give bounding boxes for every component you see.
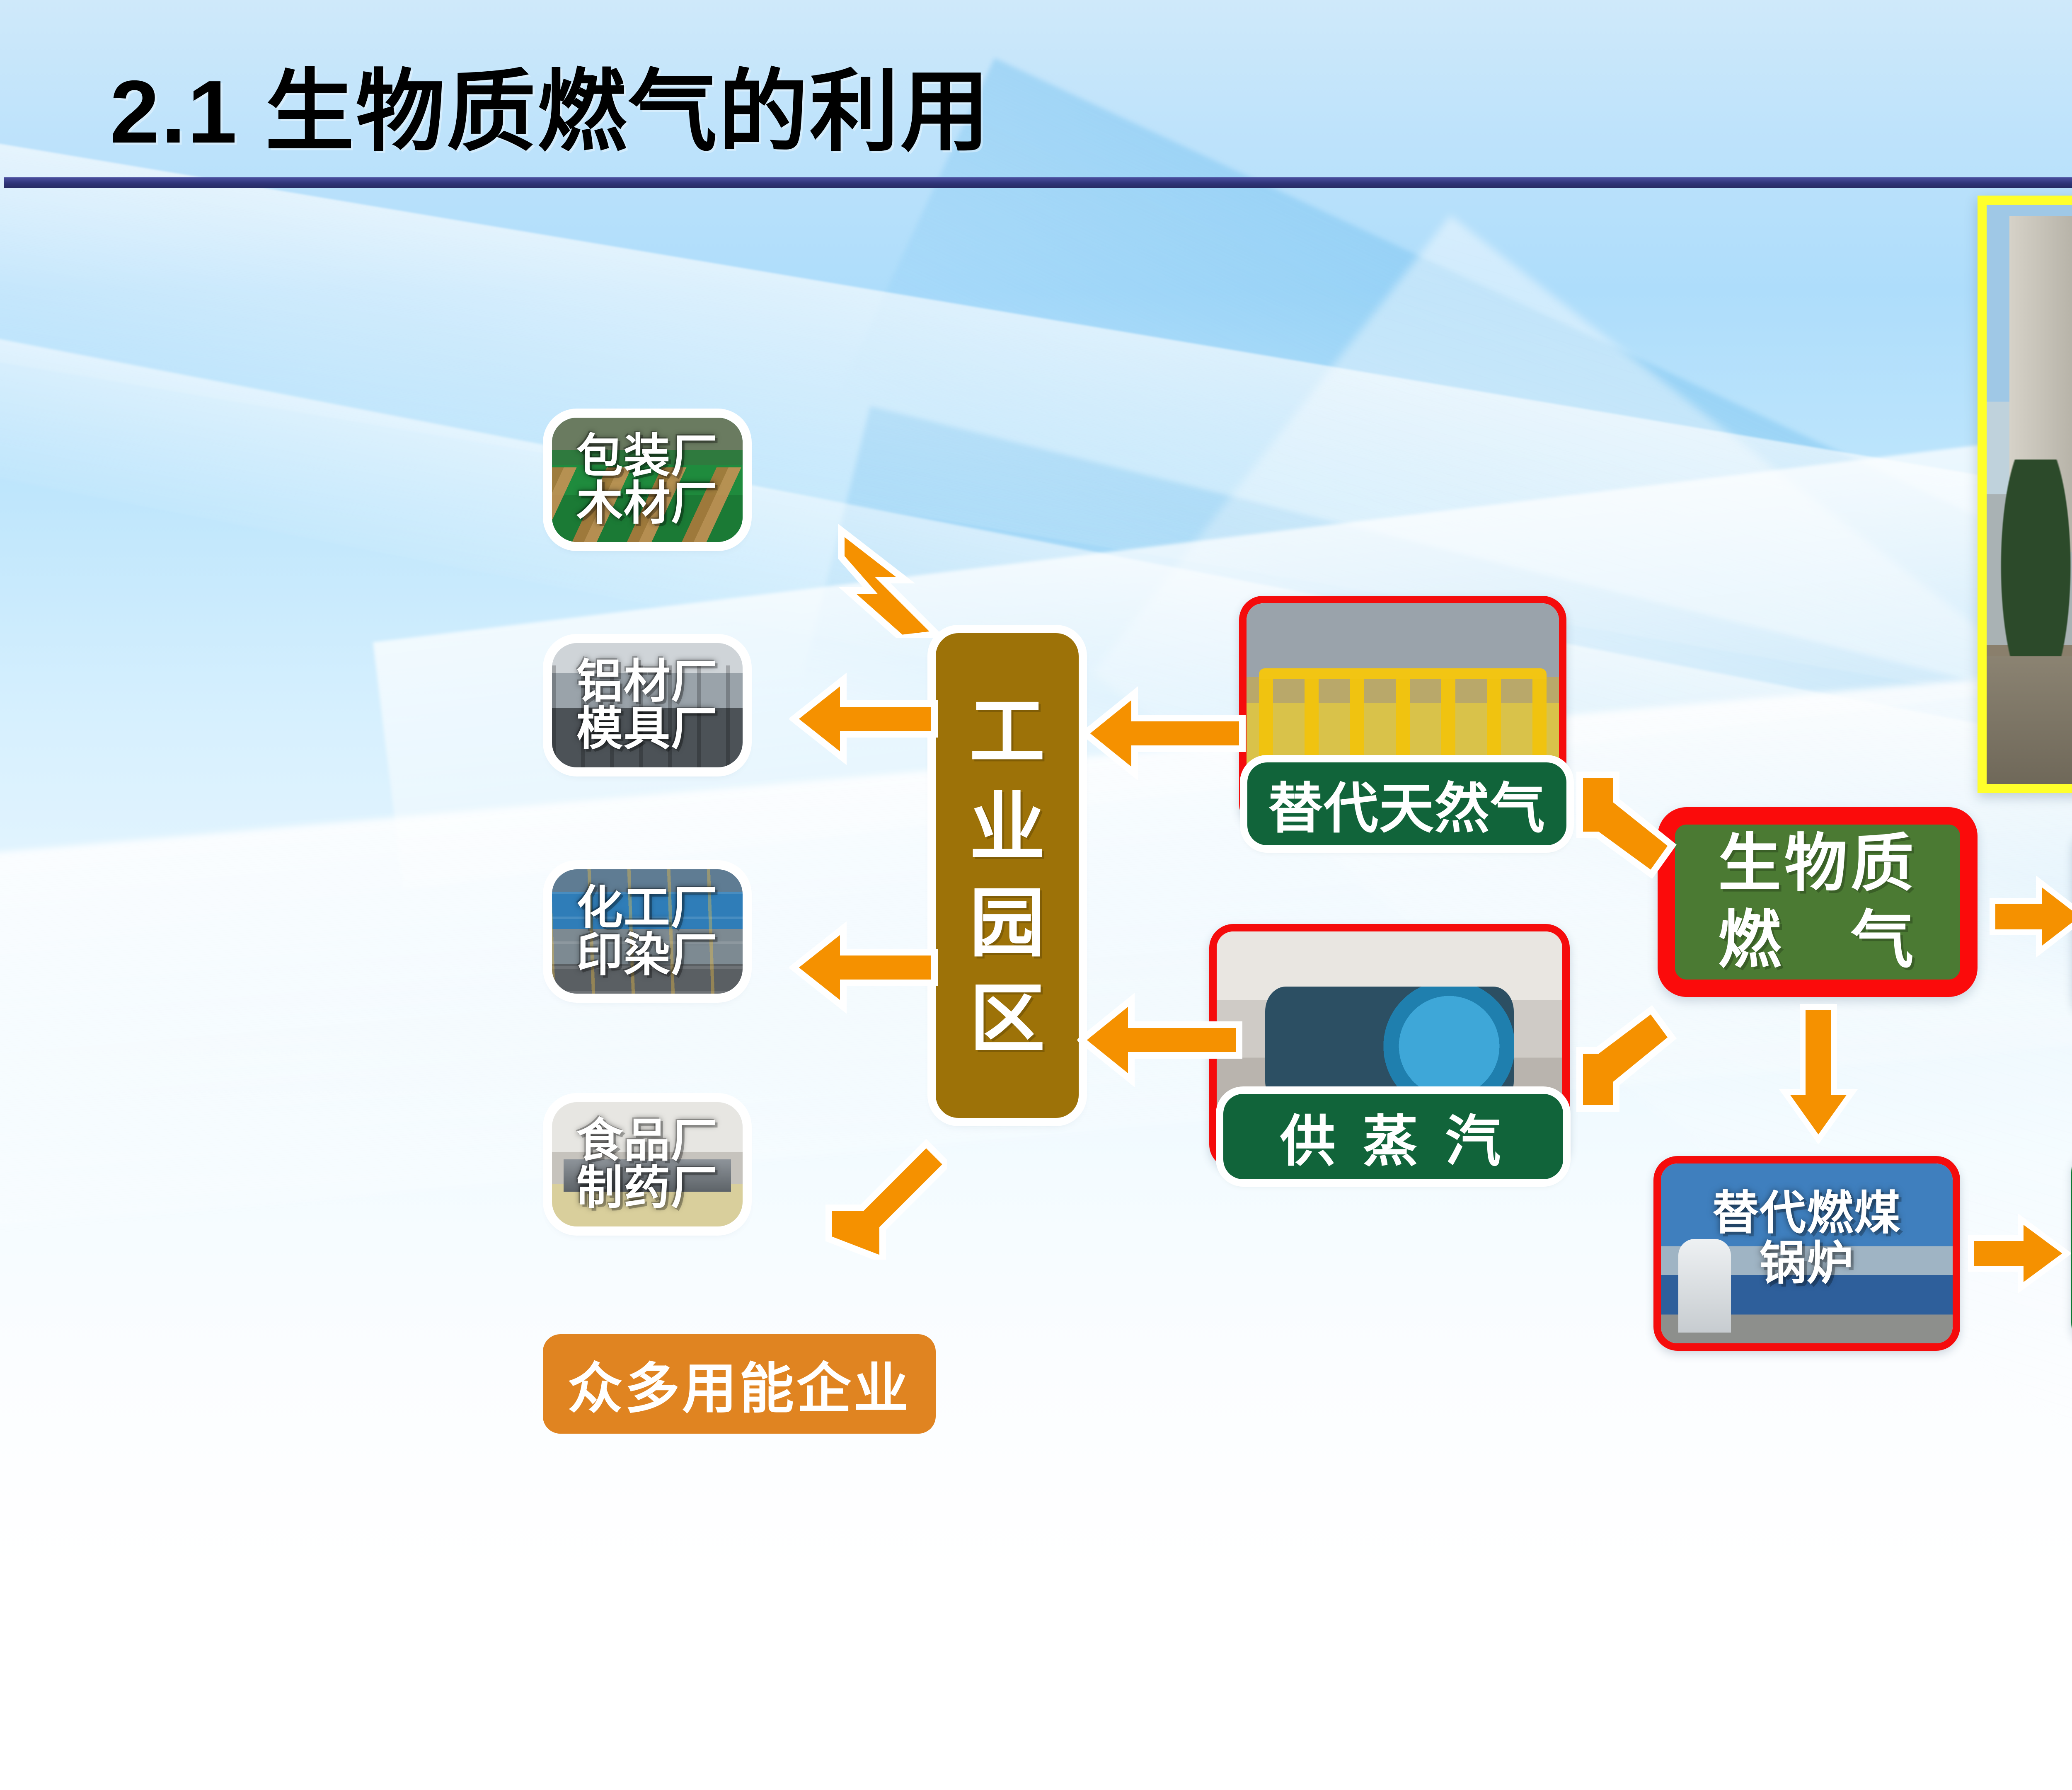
- supply-chip-natural-gas-substitute: 替代天然气: [1247, 762, 1566, 845]
- arrow-park-to-aluminium: [789, 671, 939, 767]
- arrow-park-to-food: [823, 1135, 947, 1260]
- consumer-card-label: 食品厂 制药厂: [552, 1117, 743, 1212]
- arrow-naturalgas-to-park: [1081, 686, 1247, 781]
- biomass-gas-center-node[interactable]: 生物质 燃 气: [1658, 807, 1978, 997]
- consumer-card-aluminium-mould[interactable]: 铝材厂 模具厂: [552, 643, 743, 767]
- arrow-biogas-to-naturalgas: [1575, 767, 1678, 878]
- park-char: 业: [970, 780, 1045, 876]
- center-line-1: 生物质: [1718, 825, 1917, 902]
- hero-photo-gasification-plant: [1978, 196, 2072, 793]
- arrow-park-to-packaging: [833, 514, 945, 638]
- consumer-card-label: 包装厂 木材厂: [552, 433, 743, 527]
- center-line-2: 燃 气: [1718, 902, 1917, 979]
- consumer-card-packaging-timber[interactable]: 包装厂 木材厂: [552, 418, 743, 542]
- arrow-park-to-chemical: [789, 920, 939, 1015]
- park-char: 工: [970, 684, 1045, 780]
- park-char: 区: [970, 971, 1045, 1067]
- ground-yard: [1987, 656, 2072, 784]
- arrow-biogas-to-gridpower: [1989, 875, 2072, 958]
- many-energy-users-label: 众多用能企业: [543, 1334, 936, 1434]
- arrow-biogas-to-coalboiler: [1777, 1003, 1860, 1144]
- consumer-card-label: 铝材厂 模具厂: [552, 658, 743, 752]
- slide-canvas: 2.1 生物质燃气的利用 泓泰科技 HONGTAI TECNOLOGY: [0, 0, 2072, 1790]
- consumer-card-chemical-dyeing[interactable]: 化工厂 印染厂: [552, 869, 743, 994]
- arrow-steam-to-park: [1077, 992, 1243, 1088]
- arrow-biogas-to-steam: [1575, 1005, 1678, 1121]
- output-label: 替代燃煤 锅炉: [1661, 1188, 1953, 1289]
- supply-chip-steam: 供 蒸 汽: [1223, 1094, 1563, 1179]
- industrial-park-node[interactable]: 工 业 园 区: [936, 633, 1079, 1118]
- output-node-coal-boiler-substitute[interactable]: 替代燃煤 锅炉: [1653, 1156, 1960, 1351]
- park-char: 园: [970, 876, 1045, 971]
- arrow-coalboiler-to-heating: [1968, 1214, 2071, 1293]
- consumer-card-food-pharma[interactable]: 食品厂 制药厂: [552, 1102, 743, 1226]
- page-title: 2.1 生物质燃气的利用: [110, 39, 991, 168]
- consumer-card-label: 化工厂 印染厂: [552, 884, 743, 979]
- title-divider-rule: [4, 177, 2072, 188]
